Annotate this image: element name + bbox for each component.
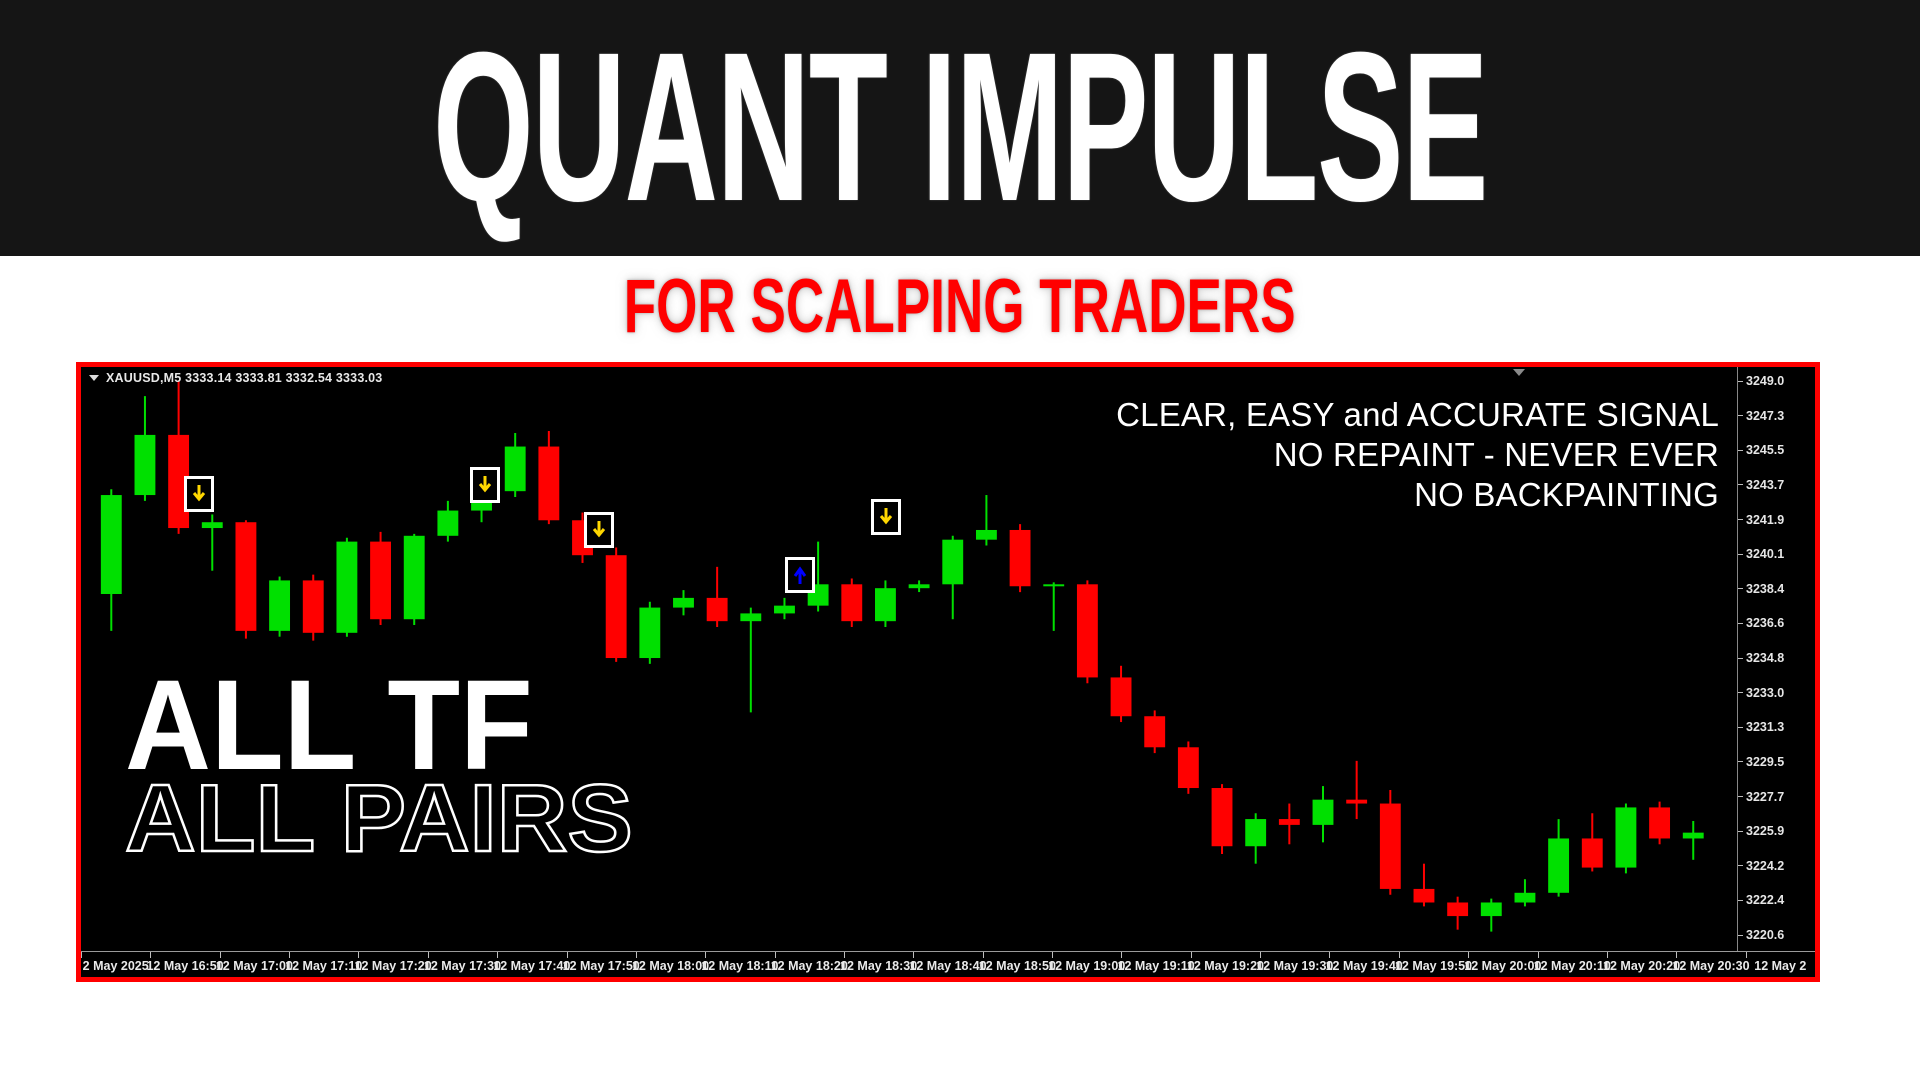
- time-tick-label: 12 May 20:20: [1603, 959, 1680, 973]
- sell-signal-1[interactable]: [184, 476, 214, 512]
- tick-dash: [1738, 519, 1743, 520]
- tick-dash: [1738, 900, 1743, 901]
- time-tick-label: 12 May 17:10: [285, 959, 362, 973]
- tick-dash: [1738, 935, 1743, 936]
- tick-dash: [1738, 865, 1743, 866]
- time-tick-label: 12 May 19:40: [1326, 959, 1403, 973]
- tick-dash: [1738, 450, 1743, 451]
- time-tick-mark: [844, 952, 845, 958]
- buy-signal-1[interactable]: [785, 557, 815, 593]
- all-pairs-label: ALL PAIRS: [125, 775, 633, 863]
- time-tick-mark: [1191, 952, 1192, 958]
- arrow-up-icon: [792, 565, 808, 585]
- tick-dash: [1738, 796, 1743, 797]
- promotional-banner-page: QUANT IMPULSE FOR SCALPING TRADERS XAUUS…: [0, 0, 1920, 1080]
- promo-overlay: CLEAR, EASY and ACCURATE SIGNAL NO REPAI…: [1116, 395, 1719, 515]
- tick-dash: [1738, 415, 1743, 416]
- tick-dash: [1738, 727, 1743, 728]
- time-tick-mark: [567, 952, 568, 958]
- brand-title: QUANT IMPULSE: [433, 22, 1487, 234]
- time-tick-label: 12 May 18:50: [979, 959, 1056, 973]
- time-tick-label: 12 May 17:50: [563, 959, 640, 973]
- time-tick-mark: [289, 952, 290, 958]
- time-tick-label: 12 May 18:20: [771, 959, 848, 973]
- price-tick-label: 3233.0: [1746, 686, 1784, 700]
- subtitle-band: FOR SCALPING TRADERS: [0, 256, 1920, 356]
- price-tick-label: 3245.5: [1746, 443, 1784, 457]
- time-tick-mark: [1746, 952, 1747, 958]
- time-tick-label: 12 May 19:10: [1118, 959, 1195, 973]
- price-tick-label: 3234.8: [1746, 651, 1784, 665]
- price-axis[interactable]: 3249.03247.33245.53243.73241.93240.13238…: [1737, 367, 1815, 951]
- tick-dash: [1738, 761, 1743, 762]
- time-tick-mark: [1052, 952, 1053, 958]
- subtitle-text: FOR SCALPING TRADERS: [624, 268, 1296, 344]
- time-tick-mark: [358, 952, 359, 958]
- arrow-down-icon: [878, 507, 894, 527]
- time-tick-mark: [1538, 952, 1539, 958]
- time-tick-label: 12 May 18:10: [701, 959, 778, 973]
- time-tick-label: 2 May 2025: [83, 959, 149, 973]
- time-tick-mark: [1468, 952, 1469, 958]
- time-tick-label: 12 May 17:20: [355, 959, 432, 973]
- time-tick-mark: [1121, 952, 1122, 958]
- time-tick-label: 12 May 20:30: [1672, 959, 1749, 973]
- time-tick-label: 12 May 20:10: [1534, 959, 1611, 973]
- chart-collapse-icon[interactable]: [1513, 369, 1525, 376]
- price-tick-label: 3249.0: [1746, 374, 1784, 388]
- chart-symbol-header: XAUUSD,M5 3333.14 3333.81 3332.54 3333.0…: [89, 371, 382, 385]
- tick-dash: [1738, 623, 1743, 624]
- time-tick-label: 12 May 16:50: [146, 959, 223, 973]
- price-tick-label: 3240.1: [1746, 547, 1784, 561]
- time-tick-mark: [220, 952, 221, 958]
- arrow-down-icon: [477, 475, 493, 495]
- promo-line-2: NO REPAINT - NEVER EVER: [1116, 435, 1719, 475]
- tick-dash: [1738, 831, 1743, 832]
- time-tick-label: 12 May 19:50: [1395, 959, 1472, 973]
- tick-dash: [1738, 381, 1743, 382]
- sell-signal-3[interactable]: [584, 512, 614, 548]
- time-tick-label: 12 May 17:30: [424, 959, 501, 973]
- promo-line-1: CLEAR, EASY and ACCURATE SIGNAL: [1116, 395, 1719, 435]
- price-tick-label: 3236.6: [1746, 616, 1784, 630]
- time-tick-label: 12 May 20:00: [1464, 959, 1541, 973]
- price-tick-label: 3225.9: [1746, 824, 1784, 838]
- time-tick-mark: [1260, 952, 1261, 958]
- time-tick-label: 12 May 18:30: [840, 959, 917, 973]
- time-tick-mark: [428, 952, 429, 958]
- chevron-down-icon[interactable]: [89, 375, 99, 381]
- chart-symbol-quote: XAUUSD,M5 3333.14 3333.81 3332.54 3333.0…: [106, 371, 382, 385]
- time-tick-mark: [636, 952, 637, 958]
- arrow-down-icon: [191, 484, 207, 504]
- price-tick-label: 3220.6: [1746, 928, 1784, 942]
- time-tick-mark: [1607, 952, 1608, 958]
- time-tick-label: 12 May 17:40: [493, 959, 570, 973]
- price-tick-label: 3227.7: [1746, 790, 1784, 804]
- time-tick-label: 12 May 18:00: [632, 959, 709, 973]
- time-tick-label: 12 May 18:40: [909, 959, 986, 973]
- price-tick-label: 3231.3: [1746, 720, 1784, 734]
- time-tick-label: 12 May 19:00: [1048, 959, 1125, 973]
- trading-chart[interactable]: XAUUSD,M5 3333.14 3333.81 3332.54 3333.0…: [76, 362, 1820, 982]
- price-tick-label: 3241.9: [1746, 513, 1784, 527]
- time-tick-mark: [1399, 952, 1400, 958]
- price-tick-label: 3222.4: [1746, 893, 1784, 907]
- tick-dash: [1738, 588, 1743, 589]
- promo-line-3: NO BACKPAINTING: [1116, 475, 1719, 515]
- time-tick-mark: [497, 952, 498, 958]
- arrow-down-icon: [591, 520, 607, 540]
- time-tick-label: 12 May 2: [1754, 959, 1806, 973]
- time-tick-mark: [1676, 952, 1677, 958]
- price-tick-label: 3224.2: [1746, 859, 1784, 873]
- tick-dash: [1738, 554, 1743, 555]
- sell-signal-2[interactable]: [470, 467, 500, 503]
- time-tick-label: 12 May 19:20: [1187, 959, 1264, 973]
- time-tick-mark: [81, 952, 82, 958]
- sell-signal-4[interactable]: [871, 499, 901, 535]
- time-tick-mark: [1329, 952, 1330, 958]
- price-tick-label: 3238.4: [1746, 582, 1784, 596]
- header-band: QUANT IMPULSE: [0, 0, 1920, 256]
- price-tick-label: 3247.3: [1746, 409, 1784, 423]
- chart-inner: XAUUSD,M5 3333.14 3333.81 3332.54 3333.0…: [81, 367, 1815, 977]
- time-tick-label: 12 May 17:00: [216, 959, 293, 973]
- time-tick-mark: [150, 952, 151, 958]
- tick-dash: [1738, 658, 1743, 659]
- time-axis[interactable]: 2 May 202512 May 16:5012 May 17:0012 May…: [81, 951, 1815, 977]
- time-tick-label: 12 May 19:30: [1256, 959, 1333, 973]
- time-tick-mark: [983, 952, 984, 958]
- price-tick-label: 3229.5: [1746, 755, 1784, 769]
- tick-dash: [1738, 692, 1743, 693]
- time-tick-mark: [775, 952, 776, 958]
- tick-dash: [1738, 484, 1743, 485]
- time-tick-mark: [913, 952, 914, 958]
- time-tick-mark: [705, 952, 706, 958]
- price-tick-label: 3243.7: [1746, 478, 1784, 492]
